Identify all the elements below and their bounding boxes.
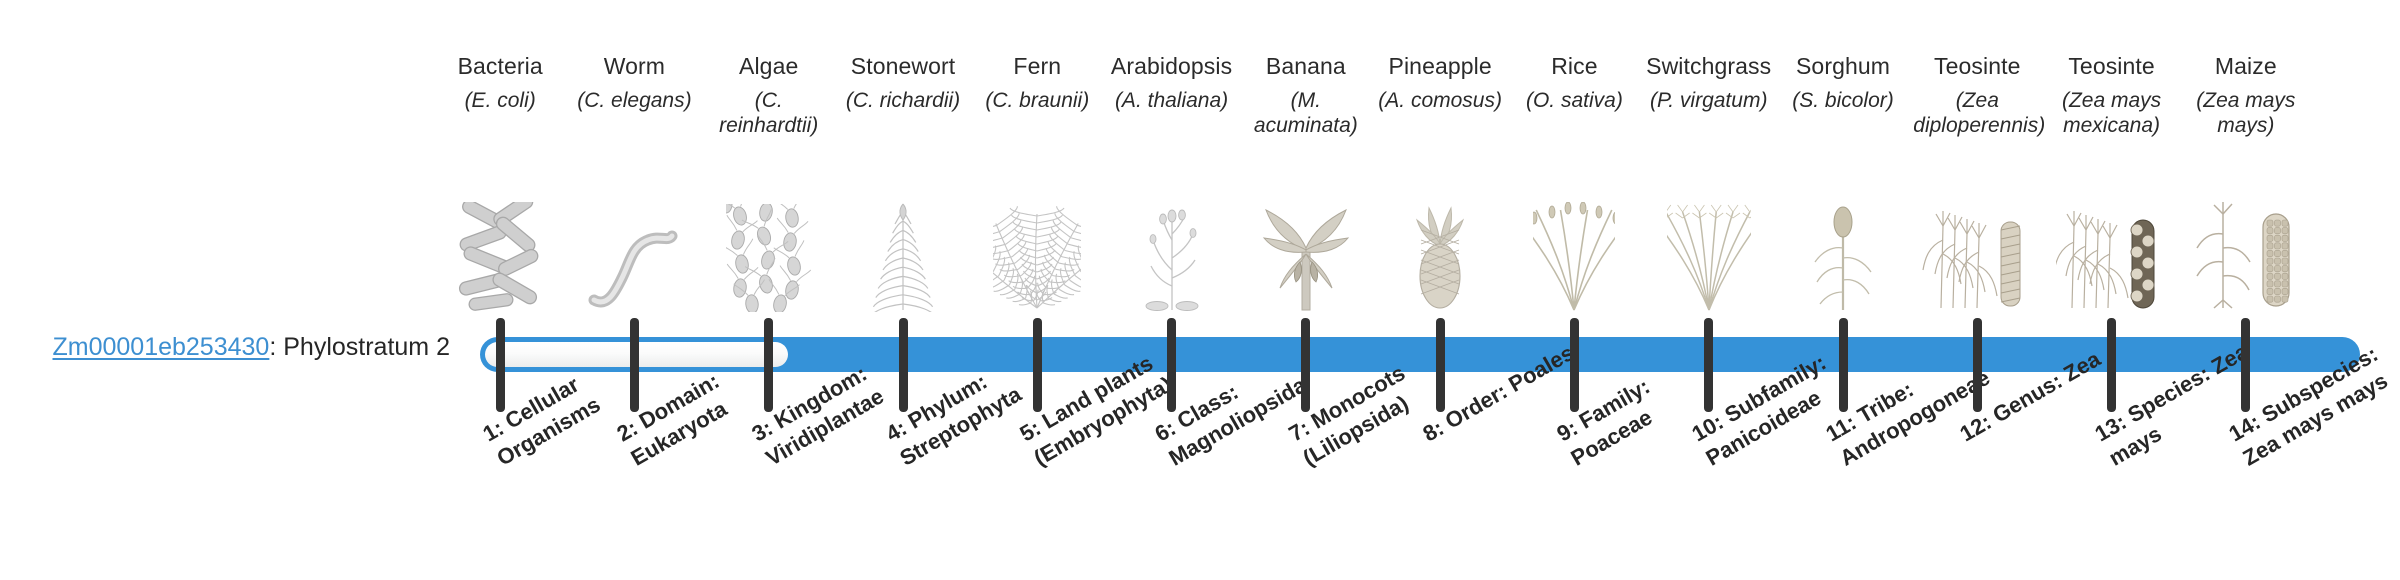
species-latin-name: (Zea mays mays) <box>2182 88 2310 138</box>
stratum-tick[interactable] <box>1839 318 1848 412</box>
stratum-rank: Family: Poaceae <box>1567 374 1657 471</box>
species-latin-name: (Zea mays mexicana) <box>2048 88 2176 138</box>
species-latin-name: (P. virgatum) <box>1645 88 1773 113</box>
species-latin-name: (A. thaliana) <box>1108 88 1236 113</box>
species-latin-name: (Zea diploperennis) <box>1913 88 2041 138</box>
species-column: Maize (Zea mays mays) <box>2182 52 2310 138</box>
species-common-name: Algae <box>705 52 833 80</box>
stratum-tick[interactable] <box>1704 318 1713 412</box>
fern-illustration <box>973 162 1101 312</box>
species-latin-name: (C. reinhardtii) <box>705 88 833 138</box>
banana-illustration <box>1242 162 1370 312</box>
teosinte-diploperennis-illustration <box>1913 162 2041 312</box>
sorghum-illustration <box>1779 162 1907 312</box>
stratum-tick[interactable] <box>1436 318 1445 412</box>
algae-illustration <box>705 162 833 312</box>
worm-illustration <box>570 162 698 312</box>
species-latin-name: (A. comosus) <box>1376 88 1504 113</box>
species-common-name: Rice <box>1510 52 1638 80</box>
stratum-tick[interactable] <box>630 318 639 412</box>
stratum-tick[interactable] <box>1301 318 1310 412</box>
stratum-tick[interactable] <box>496 318 505 412</box>
stratum-number: 8: <box>1419 415 1448 446</box>
species-column: Stonewort (C. richardii) <box>839 52 967 113</box>
species-column: Switchgrass (P. virgatum) <box>1645 52 1773 113</box>
species-common-name: Pineapple <box>1376 52 1504 80</box>
stratum-tick[interactable] <box>899 318 908 412</box>
switchgrass-illustration <box>1645 162 1773 312</box>
species-common-name: Teosinte <box>1913 52 2041 80</box>
species-common-name: Arabidopsis <box>1108 52 1236 80</box>
phylostratum-timeline: Zm00001eb253430: Phylostratum 2 Bacteria… <box>0 0 2400 580</box>
species-latin-name: (C. elegans) <box>570 88 698 113</box>
species-latin-name: (O. sativa) <box>1510 88 1638 113</box>
species-common-name: Stonewort <box>839 52 967 80</box>
stratum-tick[interactable] <box>2241 318 2250 412</box>
species-common-name: Sorghum <box>1779 52 1907 80</box>
species-column: Arabidopsis (A. thaliana) <box>1108 52 1236 113</box>
species-column: Rice (O. sativa) <box>1510 52 1638 113</box>
gene-label-separator: : <box>269 333 283 361</box>
species-latin-name: (S. bicolor) <box>1779 88 1907 113</box>
species-column: Teosinte (Zea diploperennis) <box>1913 52 2041 138</box>
species-latin-name: (C. braunii) <box>973 88 1101 113</box>
stratum-tick[interactable] <box>764 318 773 412</box>
stratum-tick[interactable] <box>2107 318 2116 412</box>
rice-illustration <box>1510 162 1638 312</box>
species-latin-name: (M. acuminata) <box>1242 88 1370 138</box>
pineapple-illustration <box>1376 162 1504 312</box>
teosinte-mexicana-illustration <box>2048 162 2176 312</box>
species-column: Fern (C. braunii) <box>973 52 1101 113</box>
species-common-name: Bacteria <box>436 52 564 80</box>
species-latin-name: (C. richardii) <box>839 88 967 113</box>
species-column: Teosinte (Zea mays mexicana) <box>2048 52 2176 138</box>
maize-illustration <box>2182 162 2310 312</box>
stratum-tick[interactable] <box>1167 318 1176 412</box>
phylostratum-value: Phylostratum 2 <box>283 333 450 361</box>
stratum-tick[interactable] <box>1973 318 1982 412</box>
species-common-name: Worm <box>570 52 698 80</box>
species-common-name: Maize <box>2182 52 2310 80</box>
stratum-tick[interactable] <box>1033 318 1042 412</box>
species-header-row: Bacteria (E. coli) Worm (C. elegans) Alg… <box>464 52 2384 312</box>
species-column: Bacteria (E. coli) <box>436 52 564 113</box>
gene-id-link[interactable]: Zm00001eb253430 <box>52 333 269 361</box>
arabidopsis-illustration <box>1108 162 1236 312</box>
stratum-number: 12: <box>1956 409 1996 447</box>
species-column: Pineapple (A. comosus) <box>1376 52 1504 113</box>
species-latin-name: (E. coli) <box>436 88 564 113</box>
species-common-name: Teosinte <box>2048 52 2176 80</box>
stratum-rank: Cellular Organisms <box>493 372 605 471</box>
species-common-name: Fern <box>973 52 1101 80</box>
species-column: Sorghum (S. bicolor) <box>1779 52 1907 113</box>
species-column: Banana (M. acuminata) <box>1242 52 1370 138</box>
bacteria-illustration <box>436 162 564 312</box>
species-common-name: Banana <box>1242 52 1370 80</box>
species-column: Worm (C. elegans) <box>570 52 698 113</box>
stratum-tick[interactable] <box>1570 318 1579 412</box>
species-common-name: Switchgrass <box>1645 52 1773 80</box>
species-column: Algae (C. reinhardtii) <box>705 52 833 138</box>
gene-phylostratum-label: Zm00001eb253430: Phylostratum 2 <box>0 332 450 362</box>
stonewort-illustration <box>839 162 967 312</box>
